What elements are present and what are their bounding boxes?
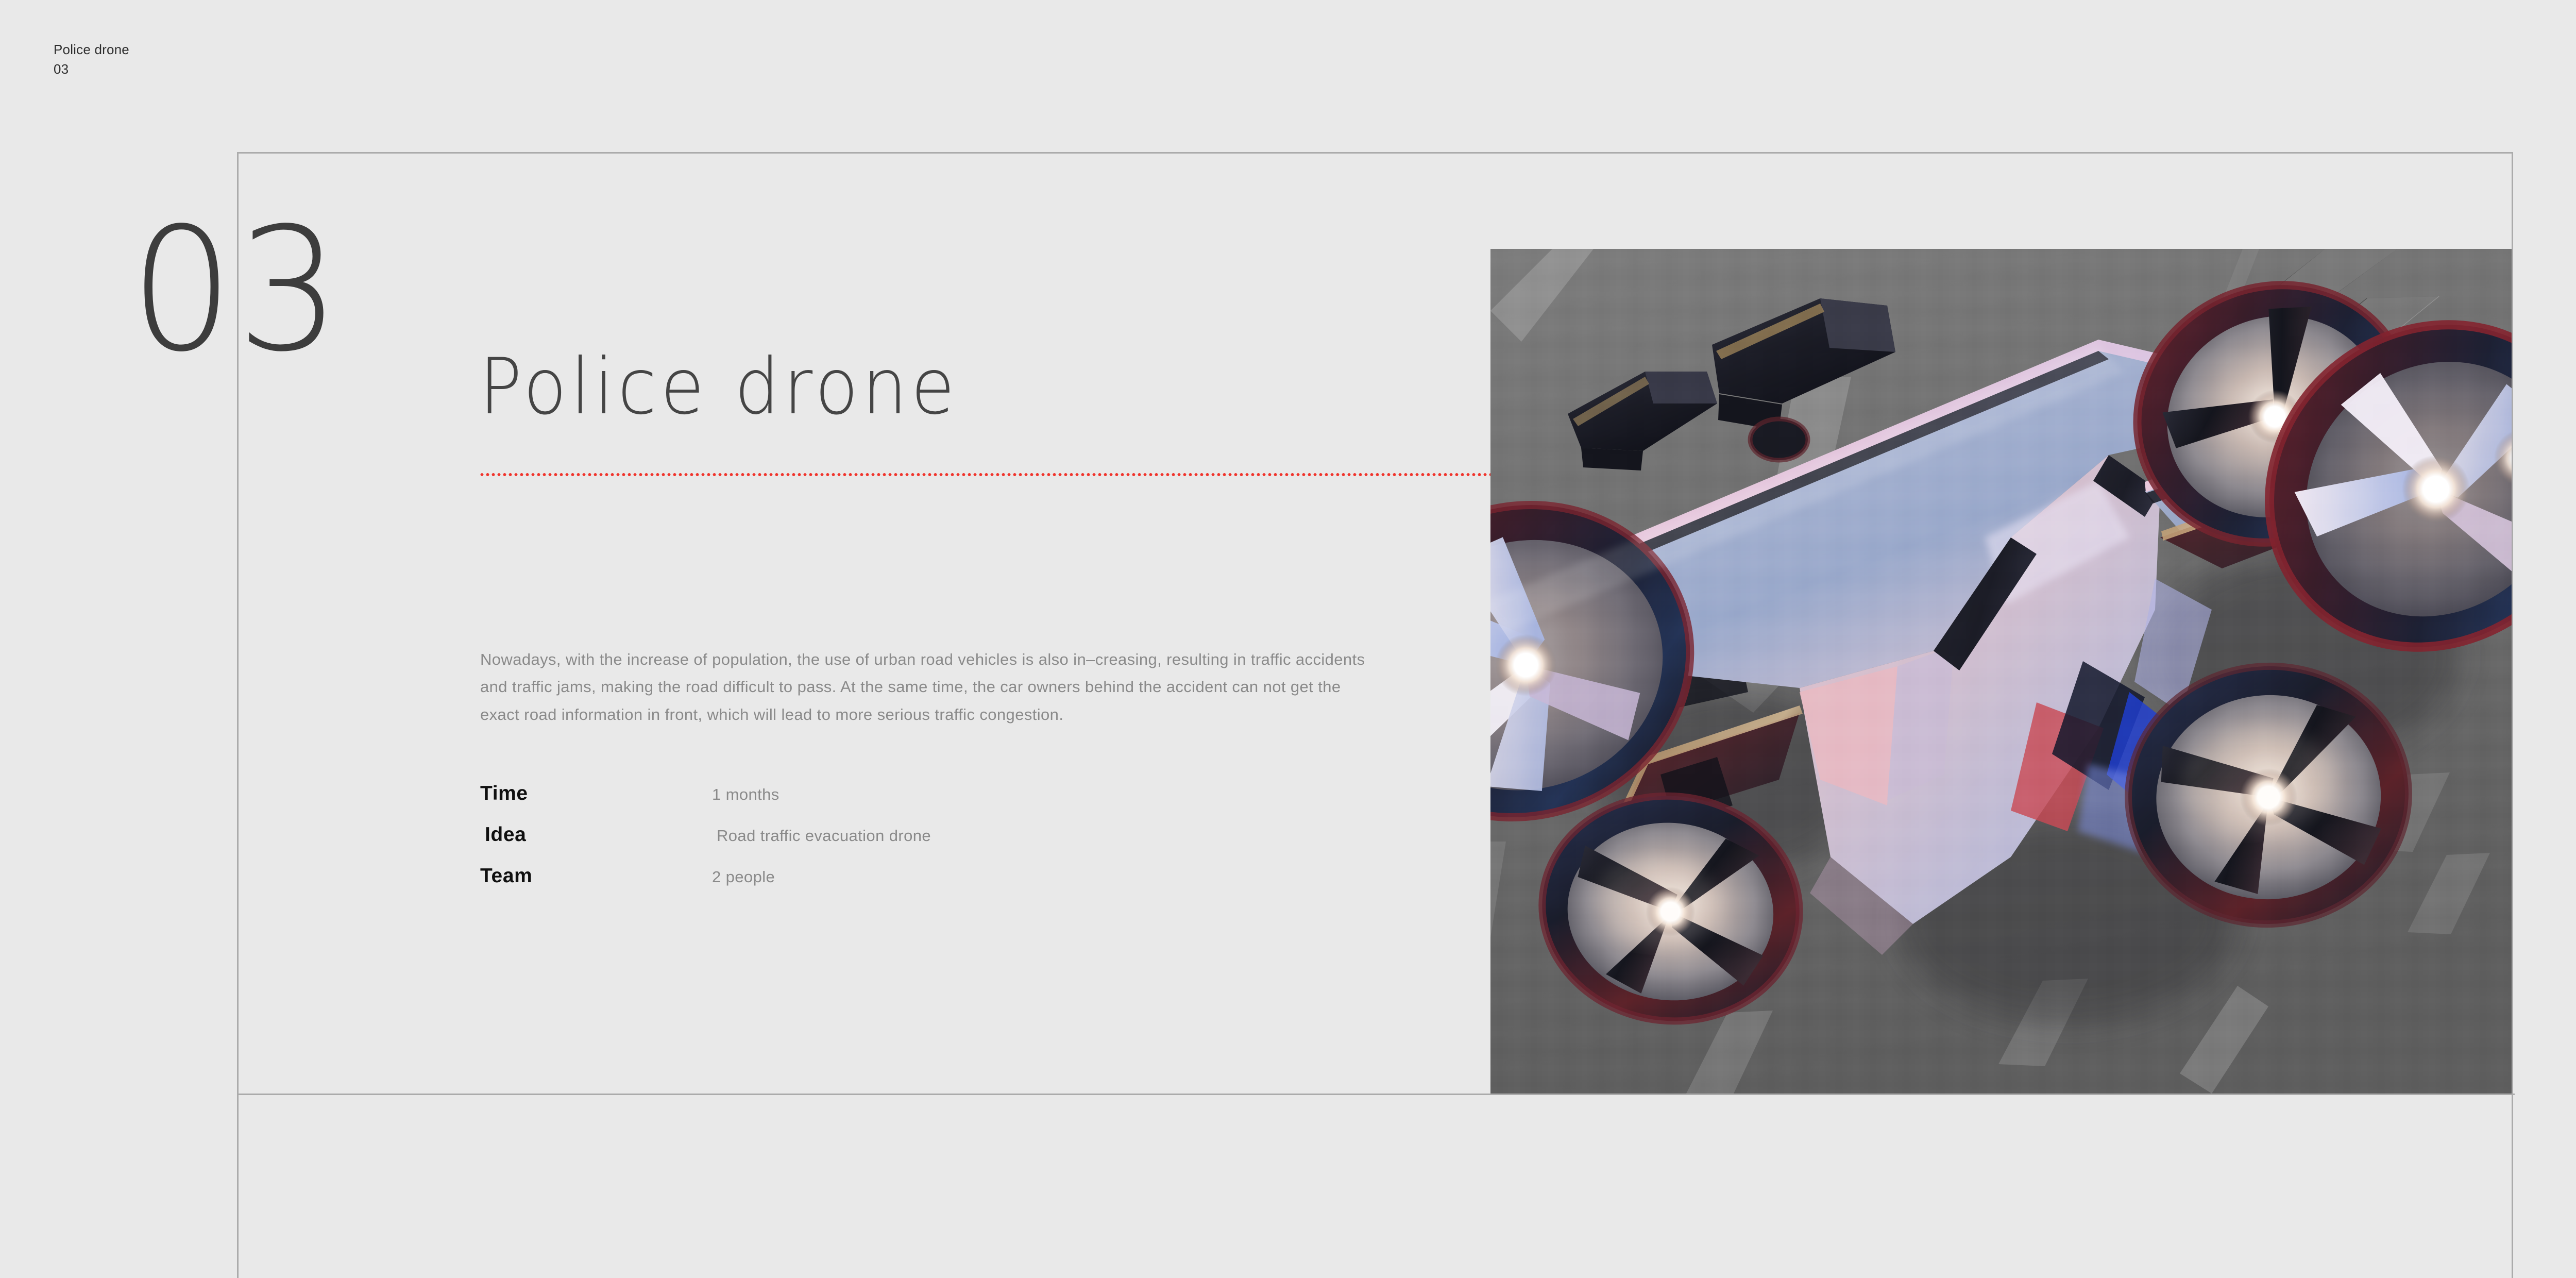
title-dotted-rule	[479, 473, 1490, 476]
frame-horizontal-divider	[237, 1094, 2515, 1095]
police-drone-render	[1490, 249, 2512, 1094]
spec-row-team: Team 2 people	[480, 865, 1253, 906]
project-spec-list: Time 1 months Idea Road traffic evacuati…	[480, 782, 1253, 906]
project-title-block: Police drone	[479, 346, 1492, 428]
spec-label-time: Time	[480, 782, 712, 805]
spec-row-time: Time 1 months	[480, 782, 1253, 823]
spec-value-team: 2 people	[712, 868, 775, 886]
spec-row-idea: Idea Road traffic evacuation drone	[480, 823, 1253, 865]
header-project-name: Police drone	[54, 40, 129, 60]
project-hero-image	[1490, 249, 2512, 1094]
page-title: Police drone	[479, 346, 1411, 428]
presentation-slide: Police drone 03 Protfoilo 2022 03 Police…	[0, 0, 2576, 1278]
spec-value-idea: Road traffic evacuation drone	[717, 827, 931, 845]
spec-value-time: 1 months	[712, 785, 779, 804]
header-meta-left: Police drone 03	[54, 40, 129, 79]
spec-label-idea: Idea	[480, 823, 717, 846]
project-description: Nowadays, with the increase of populatio…	[480, 646, 1366, 728]
spec-label-team: Team	[480, 865, 712, 887]
section-index-number: 03	[130, 205, 344, 375]
header-project-index: 03	[54, 60, 129, 79]
